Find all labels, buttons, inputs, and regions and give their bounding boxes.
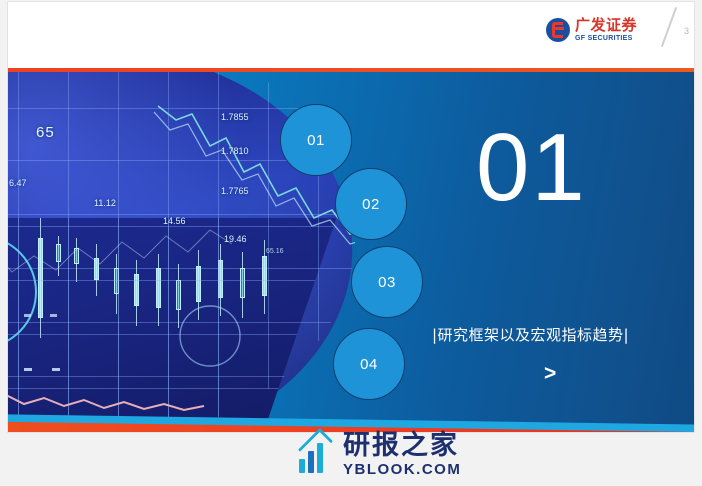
next-arrow-icon[interactable]: > (544, 362, 556, 386)
chart-label-1: 6.47 (9, 178, 27, 188)
watermark-text: 研报之家 YBLOOK.COM (343, 432, 461, 477)
chart-label-4: 19.46 (224, 234, 247, 244)
section-caption: |研究框架以及宏观指标趋势| (432, 324, 629, 345)
gf-circle-logo-icon (546, 18, 570, 42)
gf-securities-logo: 广发证券 GF SECURITIES (546, 12, 666, 48)
chart-label-6: 1.7855 (221, 112, 249, 122)
slide-body: 65 6.47 11.12 14.56 19.46 65.16 1.7855 1… (8, 68, 694, 432)
slide-header: 广发证券 GF SECURITIES 3 (8, 2, 694, 68)
slide-page: 广发证券 GF SECURITIES 3 (0, 0, 702, 486)
brand-text: 广发证券 GF SECURITIES (575, 18, 637, 42)
chart-label-7: 1.7810 (221, 146, 249, 156)
brand-name-cn: 广发证券 (575, 18, 637, 33)
watermark-name-en: YBLOOK.COM (343, 462, 461, 477)
top-accent-stripe (8, 68, 694, 72)
page-number: 3 (684, 26, 689, 36)
watermark-name-cn: 研报之家 (343, 432, 461, 459)
watermark: 研报之家 YBLOOK.COM (296, 432, 461, 477)
presentation-slide: 广发证券 GF SECURITIES 3 (8, 2, 694, 432)
section-bullet-04[interactable]: 04 (333, 328, 405, 400)
section-bullet-02-label: 02 (362, 196, 380, 213)
bar-chart-logo-icon (296, 435, 336, 475)
section-bullet-03-label: 03 (378, 274, 396, 291)
section-bullet-04-label: 04 (360, 356, 378, 373)
chart-label-3: 14.56 (163, 216, 186, 226)
section-bullet-01[interactable]: 01 (280, 104, 352, 176)
section-bullet-02[interactable]: 02 (335, 168, 407, 240)
section-number-large: 01 (476, 120, 587, 216)
chart-label-0: 65 (36, 124, 55, 141)
section-bullet-01-label: 01 (307, 132, 325, 149)
brand-name-en: GF SECURITIES (575, 35, 637, 42)
chart-label-5: 65.16 (266, 248, 284, 255)
chart-label-2: 11.12 (94, 198, 116, 208)
chart-label-8: 1.7765 (221, 186, 249, 196)
section-bullet-03[interactable]: 03 (351, 246, 423, 318)
